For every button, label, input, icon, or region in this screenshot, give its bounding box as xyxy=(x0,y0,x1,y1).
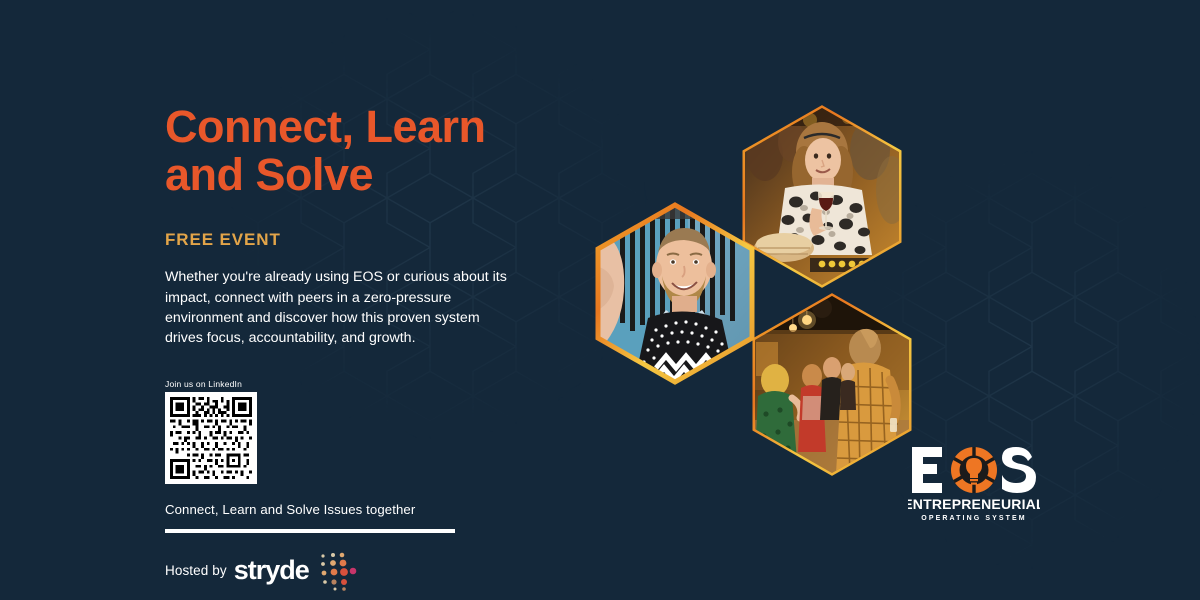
eos-tagline-line1: ENTREPRENEURIAL xyxy=(908,496,1040,512)
qr-block: Join us on LinkedIn xyxy=(165,379,545,484)
qr-code[interactable] xyxy=(165,392,257,484)
event-description: Whether you're already using EOS or curi… xyxy=(165,267,510,348)
stryde-wordmark: stryde xyxy=(234,557,309,584)
content-column: Connect, Learn and Solve FREE EVENT Whet… xyxy=(165,103,545,589)
qr-label: Join us on LinkedIn xyxy=(165,379,545,389)
divider-rule xyxy=(165,529,455,533)
title-line-2: and Solve xyxy=(165,149,373,200)
page-title: Connect, Learn and Solve xyxy=(165,103,545,198)
eos-tagline-line2: OPERATING SYSTEM xyxy=(921,515,1026,522)
free-event-badge: FREE EVENT xyxy=(165,230,545,250)
event-tagline: Connect, Learn and Solve Issues together xyxy=(165,502,545,517)
eos-letter-e xyxy=(912,447,942,493)
stryde-dot-logo xyxy=(314,551,360,591)
photo-man-smiling xyxy=(596,203,754,384)
eos-letter-s xyxy=(1002,447,1036,493)
eos-logo: ENTREPRENEURIAL OPERATING SYSTEM xyxy=(908,443,1040,525)
hosted-by-label: Hosted by xyxy=(165,563,227,578)
photo-woman-networking xyxy=(745,106,908,287)
title-line-1: Connect, Learn xyxy=(165,101,486,152)
hosted-by-row: Hosted by stryde xyxy=(165,551,545,589)
eos-letter-o-lightbulb xyxy=(951,447,997,493)
photo-group-mingling xyxy=(753,294,911,478)
